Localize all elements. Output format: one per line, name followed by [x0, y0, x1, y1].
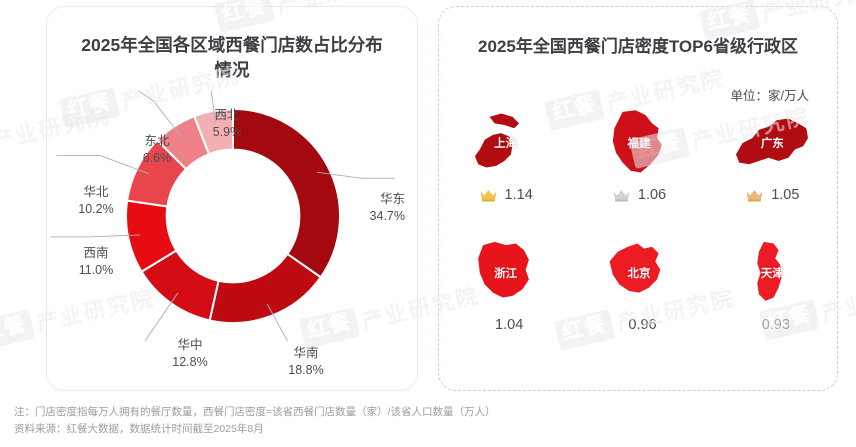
donut-label-xibei-name: 西北: [214, 108, 239, 122]
tianjin-map-icon: [731, 237, 813, 309]
province-card-shanghai[interactable]: 上海1.14: [439, 103, 572, 233]
fujian-silhouette: [613, 110, 662, 172]
province-density-value: 1.04: [495, 317, 523, 333]
province-density-panel: 2025年全国西餐门店密度TOP6省级行政区 单位：家/万人 上海1.14福建1…: [438, 6, 838, 391]
province-map-fujian: 福建: [593, 103, 685, 183]
province-map-guangdong: 广东: [726, 103, 818, 183]
province-map-beijing: 北京: [593, 233, 685, 313]
donut-label-huabei-name: 华北: [83, 185, 108, 199]
zhejiang-map-icon: [465, 237, 547, 309]
page-title-right: 2025年全国西餐门店密度TOP6省级行政区: [439, 35, 837, 60]
province-grid: 上海1.14福建1.06广东1.05浙江1.04北京0.96天津0.93: [439, 103, 839, 363]
shanghai-map-icon: [465, 107, 547, 179]
footer-notes: 注：门店密度指每万人拥有的餐厅数量，西餐门店密度=该省西餐门店数量（家）/该省人…: [14, 404, 842, 439]
donut-label-dongbei-name: 东北: [144, 134, 169, 148]
zhejiang-silhouette: [478, 242, 529, 298]
donut-label-huanan-name: 华南: [293, 346, 318, 360]
watermark-badge: 红餐: [0, 310, 35, 351]
donut-label-dongbei-value: 6.6%: [125, 150, 189, 167]
donut-label-xinan-value: 11.0%: [63, 262, 129, 279]
crown-icon: [479, 188, 498, 203]
donut-label-xibei-value: 5.9%: [195, 124, 259, 141]
crown-icon: [745, 188, 764, 203]
province-card-guangdong[interactable]: 广东1.05: [706, 103, 839, 233]
donut-label-huadong: 华东 34.7%: [343, 191, 405, 225]
province-density-value: 1.14: [505, 187, 533, 203]
donut-label-xinan-name: 西南: [83, 246, 108, 260]
crown-icon: [612, 188, 631, 203]
donut-label-huabei: 华北 10.2%: [63, 184, 129, 218]
infographic-root: 红餐 产业研究院 红餐 产业研究院 红餐 产业研究院 红餐 产业研究院 红餐 产…: [0, 0, 856, 447]
donut-chart-panel: 2025年全国各区域西餐门店数占比分布情况 西北 5.9% 东北 6.6% 华北…: [46, 6, 418, 391]
beijing-silhouette: [610, 244, 661, 293]
province-density-value: 1.05: [771, 187, 799, 203]
donut-label-huazhong-name: 华中: [177, 338, 202, 352]
province-value-row: 1.14: [479, 187, 533, 203]
province-density-value: 1.06: [638, 187, 666, 203]
province-card-zhejiang[interactable]: 浙江1.04: [439, 233, 572, 363]
donut-label-dongbei: 东北 6.6%: [125, 133, 189, 167]
province-value-row: 1.05: [745, 187, 799, 203]
shanghai-silhouette: [475, 114, 519, 168]
province-density-value: 0.93: [762, 317, 790, 333]
unit-label: 单位：家/万人: [731, 85, 809, 104]
footer-source: 资料来源：红餐大数据，数据统计时间截至2025年8月: [14, 421, 842, 438]
province-value-row: 0.93: [755, 317, 790, 333]
province-map-tianjin: 天津: [726, 233, 818, 313]
donut-label-huazhong-value: 12.8%: [157, 354, 223, 371]
province-map-zhejiang: 浙江: [460, 233, 552, 313]
donut-label-xinan: 西南 11.0%: [63, 245, 129, 279]
donut-label-huadong-value: 34.7%: [343, 208, 405, 225]
donut-label-huanan: 华南 18.8%: [273, 345, 339, 379]
footer-note: 注：门店密度指每万人拥有的餐厅数量，西餐门店密度=该省西餐门店数量（家）/该省人…: [14, 404, 842, 421]
donut-label-xibei: 西北 5.9%: [195, 107, 259, 141]
province-value-row: 1.04: [488, 317, 523, 333]
province-value-row: 1.06: [612, 187, 666, 203]
guangdong-silhouette: [736, 118, 808, 164]
province-map-shanghai: 上海: [460, 103, 552, 183]
tianjin-silhouette: [758, 242, 783, 301]
donut-label-huabei-value: 10.2%: [63, 201, 129, 218]
donut-label-huadong-name: 华东: [380, 192, 405, 206]
province-value-row: 0.96: [621, 317, 656, 333]
guangdong-map-icon: [731, 107, 813, 179]
donut-leader-line: [144, 293, 178, 341]
province-card-tianjin[interactable]: 天津0.93: [706, 233, 839, 363]
beijing-map-icon: [598, 237, 680, 309]
donut-label-huanan-value: 18.8%: [273, 362, 339, 379]
province-card-fujian[interactable]: 福建1.06: [572, 103, 705, 233]
page-title-left: 2025年全国各区域西餐门店数占比分布情况: [47, 33, 417, 84]
province-card-beijing[interactable]: 北京0.96: [572, 233, 705, 363]
donut-label-huazhong: 华中 12.8%: [157, 337, 223, 371]
fujian-map-icon: [598, 107, 680, 179]
province-density-value: 0.96: [628, 317, 656, 333]
